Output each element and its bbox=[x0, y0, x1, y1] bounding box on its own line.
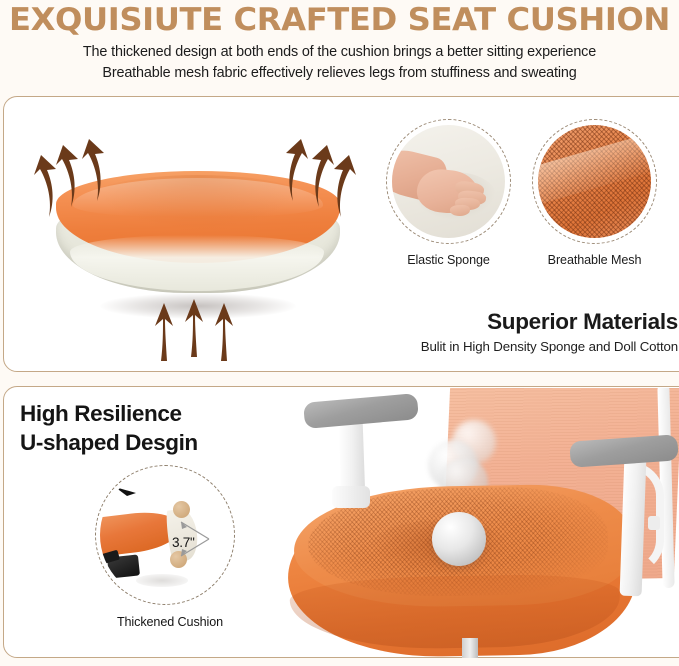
office-chair-with-orange-seat-photo bbox=[274, 388, 679, 658]
cushion-front-edge bbox=[70, 235, 324, 291]
superior-materials-block: Superior Materials Bulit in High Density… bbox=[258, 309, 678, 354]
superior-materials-title: Superior Materials bbox=[258, 309, 678, 335]
high-resilience-heading: High Resilience U-shaped Desgin bbox=[20, 399, 198, 457]
thickness-measurement: 3.7" bbox=[172, 535, 195, 550]
feature-elastic-sponge: Elastic Sponge bbox=[386, 119, 511, 267]
support-arrow-up-icon bbox=[210, 301, 238, 363]
lift-arrow-up-icon bbox=[76, 137, 110, 203]
heading-line-1: High Resilience bbox=[20, 399, 198, 428]
chair-base-stem bbox=[462, 638, 478, 658]
breathable-mesh-circle-frame bbox=[532, 119, 657, 244]
thickened-cushion-circle-frame: 3.7" bbox=[95, 465, 235, 605]
feature-breathable-mesh: Breathable Mesh bbox=[532, 119, 657, 267]
product-infographic: EXQUISIUTE CRAFTED SEAT CUSHION The thic… bbox=[0, 0, 679, 666]
lift-arrow-up-icon bbox=[328, 153, 362, 219]
header: EXQUISIUTE CRAFTED SEAT CUSHION The thic… bbox=[0, 0, 679, 88]
panel-superior-materials: Elastic Sponge Breathable Mesh Superior … bbox=[3, 96, 679, 372]
orange-mesh-fabric-photo bbox=[538, 125, 651, 238]
hand-pressing-foam-photo bbox=[392, 125, 505, 238]
support-arrow-up-icon bbox=[150, 301, 178, 363]
feature-label: Thickened Cushion bbox=[95, 615, 245, 629]
cushion-cross-section-photo bbox=[100, 470, 230, 600]
heading-line-2: U-shaped Desgin bbox=[20, 428, 198, 457]
support-arrow-up-icon bbox=[180, 297, 208, 359]
elastic-sponge-circle-frame bbox=[386, 119, 511, 244]
superior-materials-subtitle: Bulit in High Density Sponge and Doll Co… bbox=[258, 339, 678, 354]
bouncing-ball-icon bbox=[432, 512, 486, 566]
feature-label: Breathable Mesh bbox=[532, 253, 657, 267]
subtitle-line-2: Breathable mesh fabric effectively relie… bbox=[0, 63, 679, 84]
subtitle-line-1: The thickened design at both ends of the… bbox=[0, 42, 679, 63]
feature-label: Elastic Sponge bbox=[386, 253, 511, 267]
page-title: EXQUISIUTE CRAFTED SEAT CUSHION bbox=[0, 0, 679, 37]
pointer-arrow-icon bbox=[114, 484, 140, 503]
feature-thickened-cushion: 3.7" Thickened Cushion bbox=[95, 465, 245, 629]
